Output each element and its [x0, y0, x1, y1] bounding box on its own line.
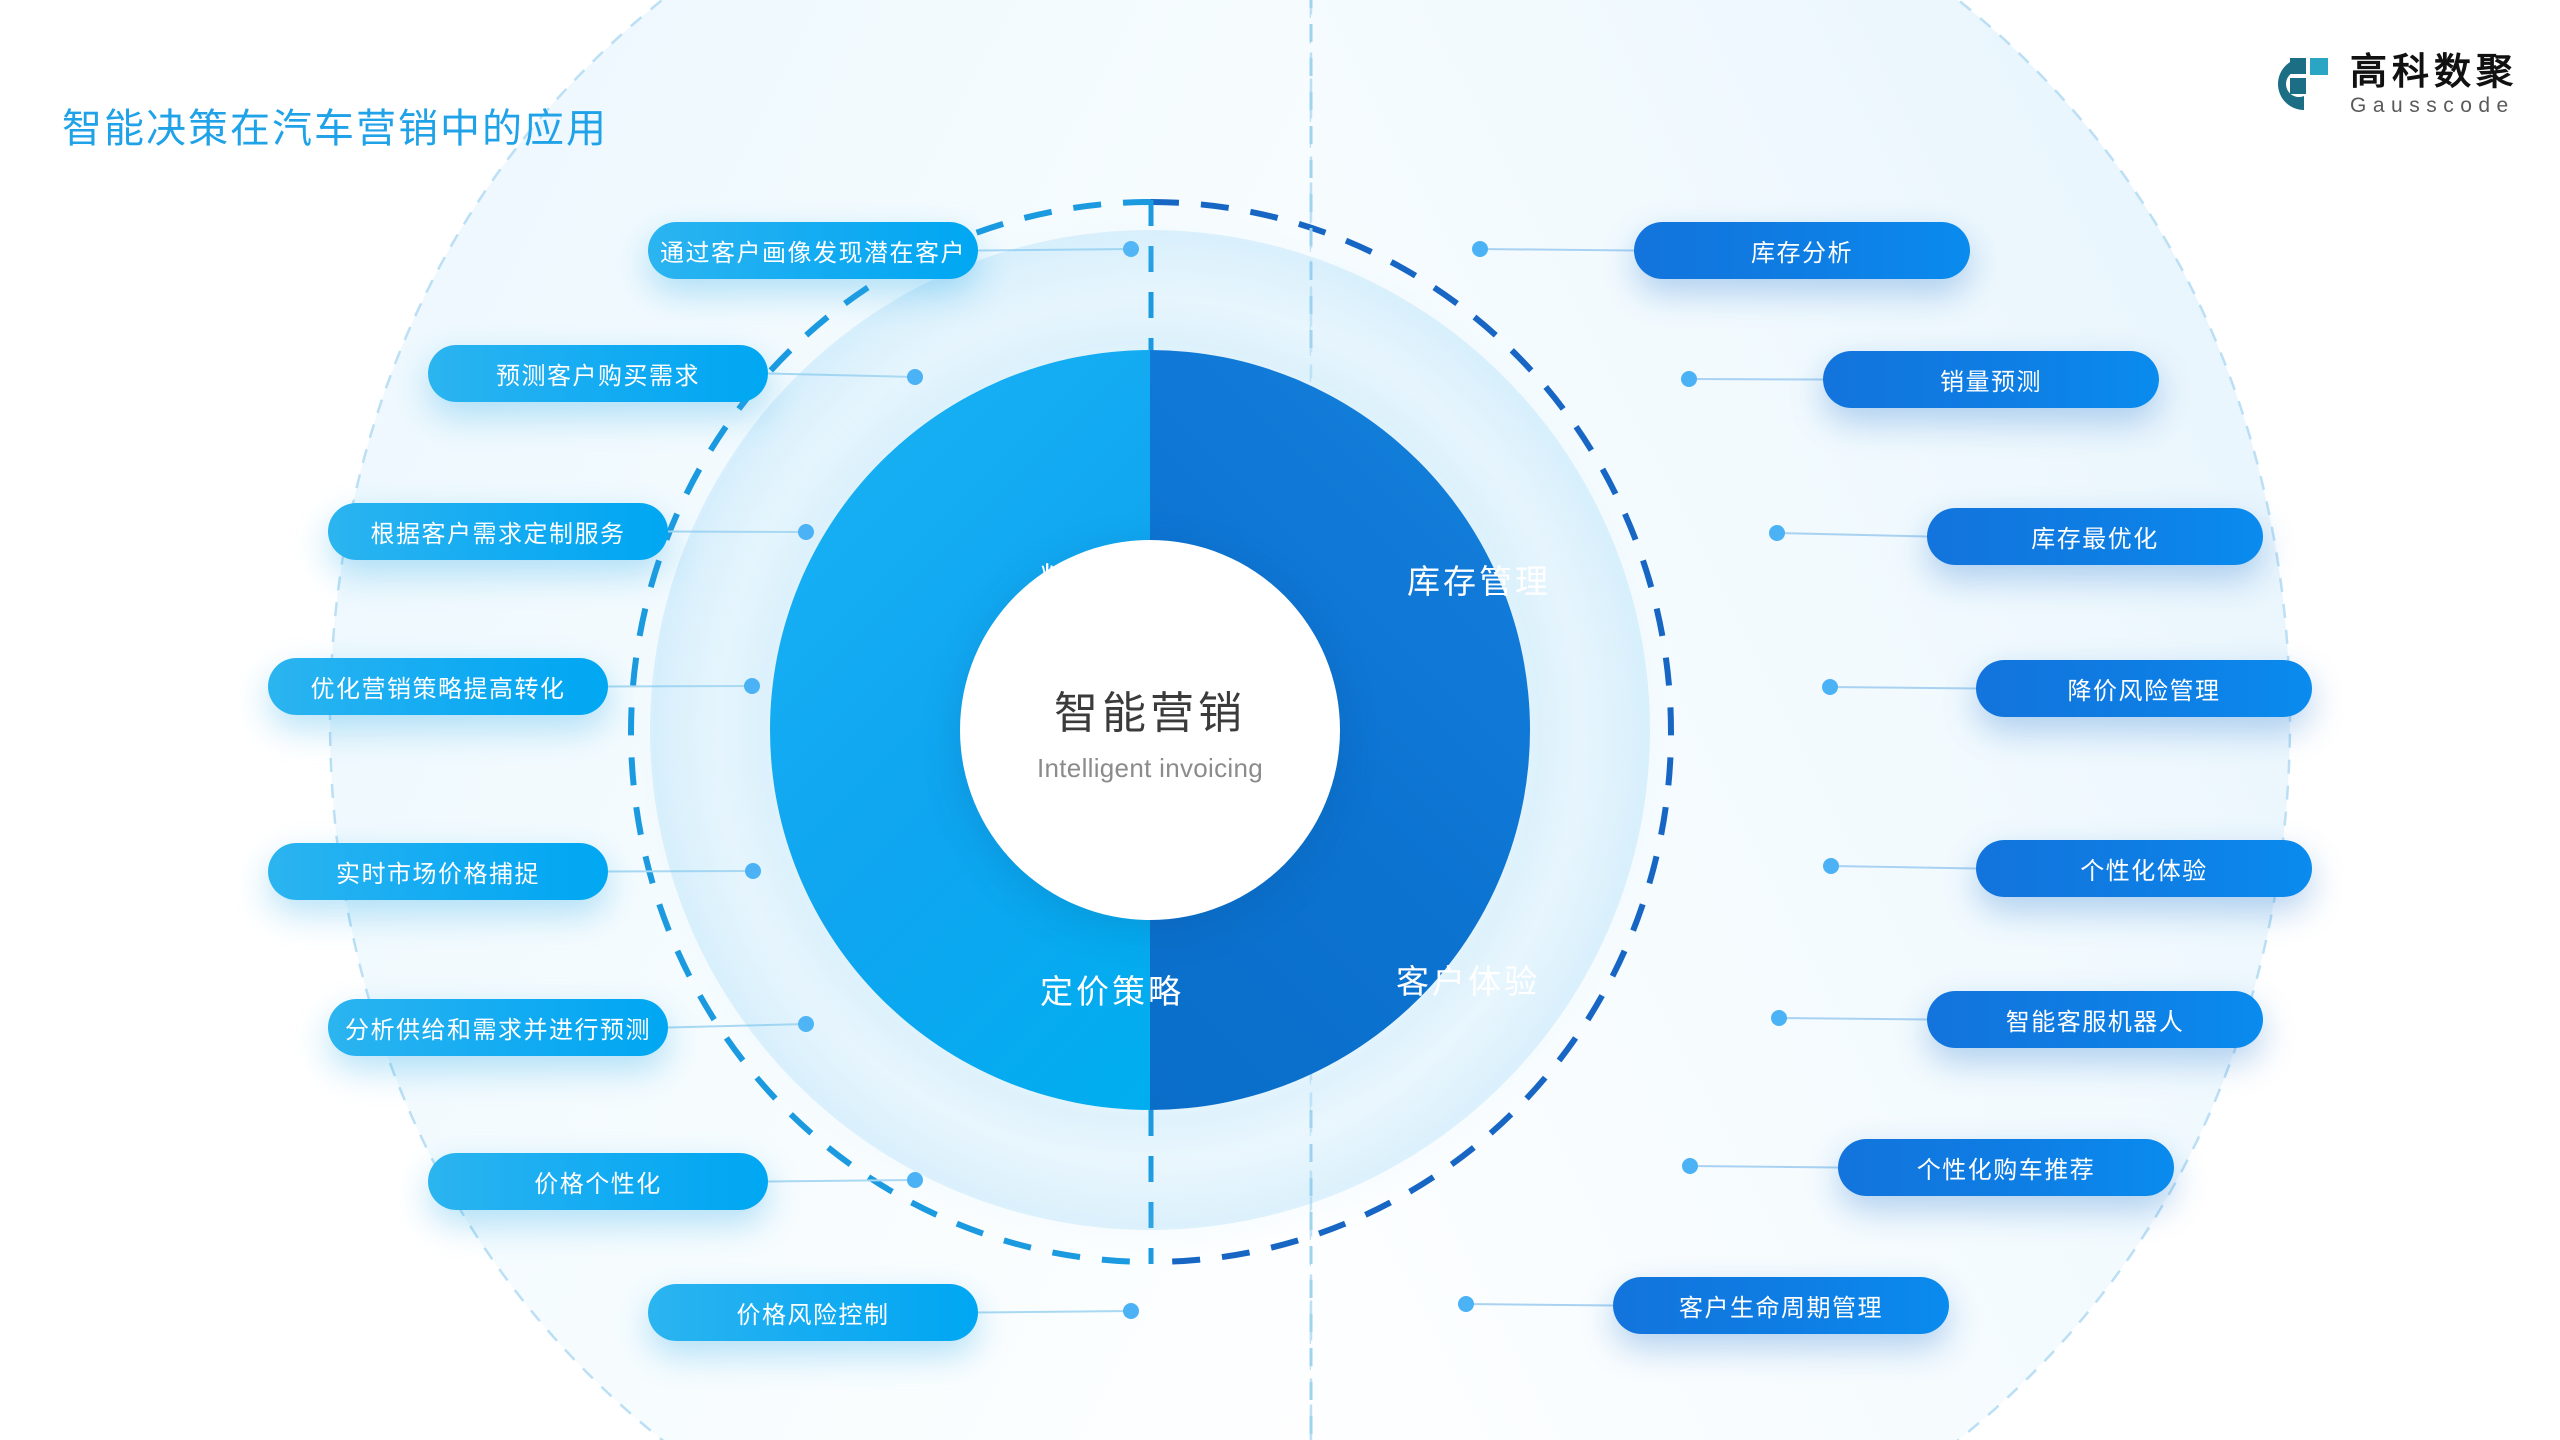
connector-line — [1690, 1166, 1838, 1168]
capability-pill-right-5[interactable]: 个性化体验 — [1976, 840, 2312, 897]
gausscode-logo-icon — [2266, 52, 2334, 116]
capability-pill-label: 分析供给和需求并进行预测 — [345, 1010, 651, 1045]
logo-name-en: Gausscode — [2350, 95, 2518, 116]
capability-pill-left-4[interactable]: 优化营销策略提高转化 — [268, 658, 608, 715]
connector-dot — [1458, 1296, 1474, 1312]
capability-pill-right-1[interactable]: 库存分析 — [1634, 222, 1970, 279]
connector-dot — [1822, 679, 1838, 695]
capability-pill-label: 降价风险管理 — [2068, 671, 2221, 706]
connector-line — [1830, 687, 1976, 689]
connector-dot — [1123, 1303, 1139, 1319]
connector-dot — [1681, 371, 1697, 387]
capability-pill-right-3[interactable]: 库存最优化 — [1927, 508, 2263, 565]
connector-dot — [1472, 241, 1488, 257]
capability-pill-label: 销量预测 — [1940, 362, 2042, 397]
connector-dot — [1823, 858, 1839, 874]
capability-pill-left-1[interactable]: 通过客户画像发现潜在客户 — [648, 222, 978, 279]
connector-line — [1466, 1304, 1613, 1306]
capability-pill-label: 通过客户画像发现潜在客户 — [660, 233, 966, 268]
capability-pill-right-8[interactable]: 客户生命周期管理 — [1613, 1277, 1949, 1334]
connector-line — [978, 1311, 1131, 1313]
quadrant-label-bottom-right: 客户体验 — [1396, 955, 1540, 1003]
quadrant-label-top-right: 库存管理 — [1407, 555, 1551, 603]
capability-pill-left-7[interactable]: 价格个性化 — [428, 1153, 768, 1210]
connector-line — [1689, 379, 1823, 380]
connector-line — [1480, 249, 1634, 251]
connector-line — [1831, 866, 1976, 869]
capability-pill-label: 根据客户需求定制服务 — [371, 514, 626, 549]
connector-dot — [1769, 525, 1785, 541]
connector-dot — [1682, 1158, 1698, 1174]
capability-pill-label: 库存最优化 — [2031, 519, 2159, 554]
capability-pill-label: 价格个性化 — [534, 1164, 662, 1199]
capability-pill-label: 价格风险控制 — [737, 1295, 890, 1330]
capability-pill-left-3[interactable]: 根据客户需求定制服务 — [328, 503, 668, 560]
brand-logo: 高科数聚 Gausscode — [2266, 52, 2518, 116]
capability-pill-label: 智能客服机器人 — [2006, 1002, 2185, 1037]
capability-pill-right-6[interactable]: 智能客服机器人 — [1927, 991, 2263, 1048]
capability-pill-label: 个性化体验 — [2080, 851, 2208, 886]
connector-line — [1777, 533, 1927, 537]
capability-pill-left-2[interactable]: 预测客户购买需求 — [428, 345, 768, 402]
capability-pill-right-4[interactable]: 降价风险管理 — [1976, 660, 2312, 717]
capability-pill-label: 预测客户购买需求 — [496, 356, 700, 391]
logo-name-cn: 高科数聚 — [2350, 53, 2518, 90]
capability-pill-label: 客户生命周期管理 — [1679, 1288, 1883, 1323]
page-title: 智能决策在汽车营销中的应用 — [62, 96, 608, 154]
hub-title-en: Intelligent invoicing — [1037, 753, 1263, 784]
infographic-canvas: 智能决策在汽车营销中的应用 高科数聚 Gausscode 智能营销 Intell… — [0, 0, 2560, 1440]
capability-pill-left-8[interactable]: 价格风险控制 — [648, 1284, 978, 1341]
hub-title-cn: 智能营销 — [1054, 677, 1246, 741]
connector-dot — [1771, 1010, 1787, 1026]
capability-pill-left-5[interactable]: 实时市场价格捕捉 — [268, 843, 608, 900]
quadrant-label-top-left: 精准营销 — [1040, 553, 1184, 601]
connector-line — [1779, 1018, 1927, 1020]
capability-pill-right-2[interactable]: 销量预测 — [1823, 351, 2159, 408]
capability-pill-label: 优化营销策略提高转化 — [311, 669, 566, 704]
capability-pill-label: 库存分析 — [1751, 233, 1853, 268]
quadrant-label-bottom-left: 定价策略 — [1040, 965, 1184, 1013]
connector-line — [768, 1180, 915, 1182]
capability-pill-left-6[interactable]: 分析供给和需求并进行预测 — [328, 999, 668, 1056]
capability-pill-label: 实时市场价格捕捉 — [336, 854, 540, 889]
capability-pill-right-7[interactable]: 个性化购车推荐 — [1838, 1139, 2174, 1196]
capability-pill-label: 个性化购车推荐 — [1917, 1150, 2096, 1185]
